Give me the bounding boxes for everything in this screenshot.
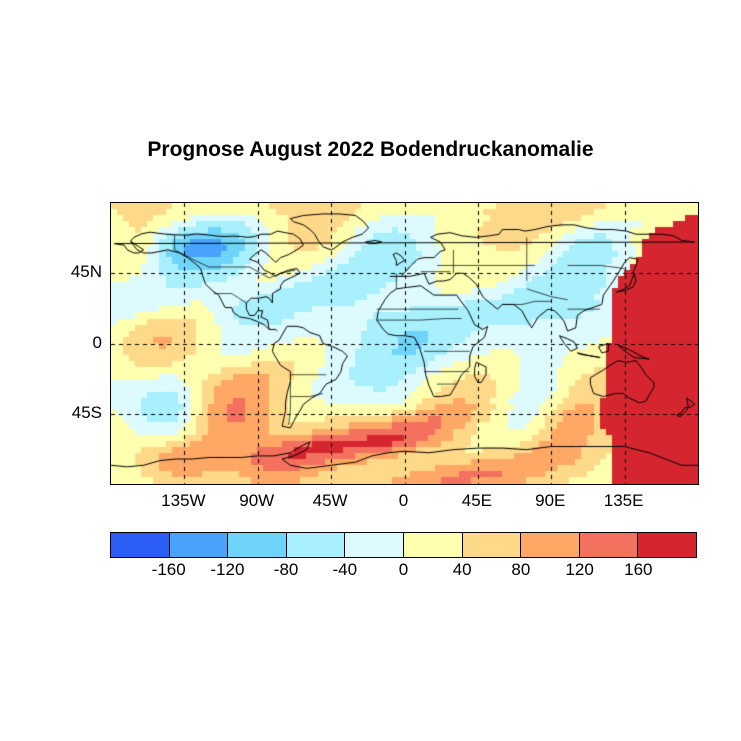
colorbar-tick-label: 40 bbox=[453, 560, 472, 580]
x-tick-label-0: 0 bbox=[399, 491, 408, 511]
y-tick-label-0: 0 bbox=[50, 333, 102, 353]
colorbar-band-9 bbox=[638, 533, 696, 557]
x-tick-label-45E: 45E bbox=[462, 491, 492, 511]
colorbar-band-5 bbox=[404, 533, 463, 557]
colorbar-tick-label: -80 bbox=[274, 560, 299, 580]
anomaly-heatmap-canvas bbox=[111, 203, 698, 484]
colorbar-tick-label: 120 bbox=[565, 560, 593, 580]
map-plot-area[interactable] bbox=[110, 202, 699, 485]
colorbar-tick-label: 80 bbox=[511, 560, 530, 580]
colorbar-band-0 bbox=[111, 533, 170, 557]
colorbar[interactable]: -160-120-80-4004080120160 bbox=[110, 532, 697, 558]
colorbar-band-6 bbox=[463, 533, 522, 557]
page-title: Prognose August 2022 Bodendruckanomalie bbox=[0, 138, 741, 162]
x-tick-label-90W: 90W bbox=[239, 491, 274, 511]
colorbar-tick-label: -160 bbox=[152, 560, 186, 580]
colorbar-tick-label: 160 bbox=[624, 560, 652, 580]
colorbar-tick-label: -40 bbox=[333, 560, 358, 580]
colorbar-bands bbox=[110, 532, 697, 558]
y-tick-label-45S: 45S bbox=[50, 403, 102, 423]
x-tick-label-90E: 90E bbox=[535, 491, 565, 511]
x-tick-label-135E: 135E bbox=[604, 491, 644, 511]
colorbar-band-4 bbox=[345, 533, 404, 557]
colorbar-band-3 bbox=[287, 533, 346, 557]
colorbar-band-7 bbox=[521, 533, 580, 557]
colorbar-tick-label: -120 bbox=[210, 560, 244, 580]
colorbar-band-8 bbox=[580, 533, 639, 557]
figure-canvas: Prognose August 2022 Bodendruckanomalie … bbox=[0, 0, 741, 741]
colorbar-band-1 bbox=[170, 533, 229, 557]
x-tick-label-135W: 135W bbox=[161, 491, 205, 511]
colorbar-band-2 bbox=[228, 533, 287, 557]
x-tick-label-45W: 45W bbox=[313, 491, 348, 511]
y-tick-label-45N: 45N bbox=[50, 262, 102, 282]
colorbar-tick-label: 0 bbox=[399, 560, 408, 580]
